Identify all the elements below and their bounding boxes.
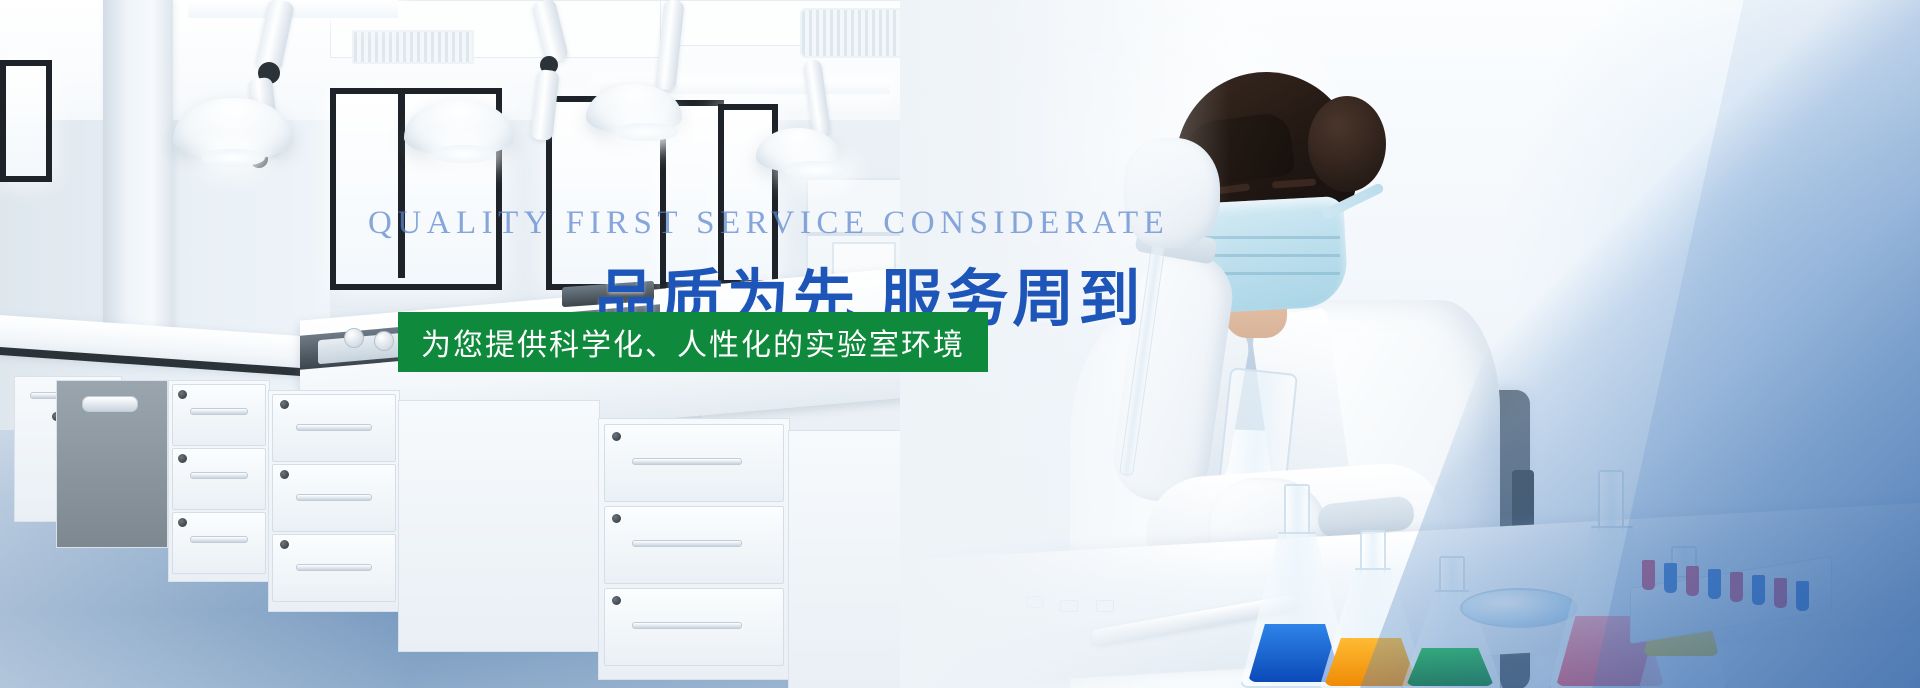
hero-banner: QUALITY FIRST SERVICE CONSIDERATE 品质为先 服… <box>0 0 1920 688</box>
banner-text-overlay: QUALITY FIRST SERVICE CONSIDERATE 品质为先 服… <box>0 0 1920 688</box>
english-tagline: QUALITY FIRST SERVICE CONSIDERATE <box>368 205 1028 242</box>
subtitle-chinese: 为您提供科学化、人性化的实验室环境 <box>421 320 965 364</box>
subtitle-green-bar: 为您提供科学化、人性化的实验室环境 <box>398 312 988 372</box>
